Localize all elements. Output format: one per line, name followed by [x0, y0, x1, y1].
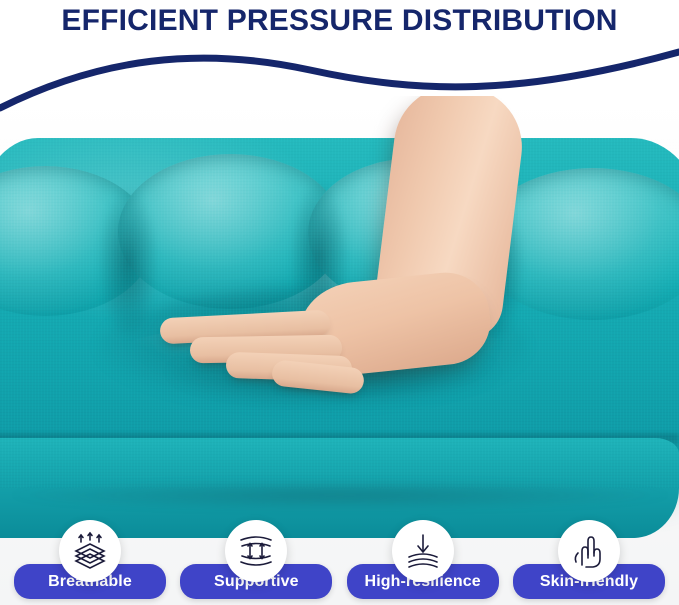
headline-band: EFFICIENT PRESSURE DISTRIBUTION [0, 0, 679, 42]
page-title: EFFICIENT PRESSURE DISTRIBUTION [61, 4, 617, 38]
high-resilience-rebound-icon [392, 520, 454, 582]
feature-high-resilience[interactable]: High-resilience [347, 520, 499, 599]
product-feature-poster: EFFICIENT PRESSURE DISTRIBUTION [0, 0, 679, 605]
supportive-arrows-icon [225, 520, 287, 582]
breathable-airflow-icon [59, 520, 121, 582]
navy-wave-divider [0, 34, 679, 124]
feature-breathable[interactable]: Breathable [14, 520, 166, 599]
feature-badge-row: Breathable [0, 493, 679, 605]
skin-friendly-hand-icon [558, 520, 620, 582]
feature-supportive[interactable]: Supportive [180, 520, 332, 599]
feature-skin-friendly[interactable]: Skin-friendly [513, 520, 665, 599]
